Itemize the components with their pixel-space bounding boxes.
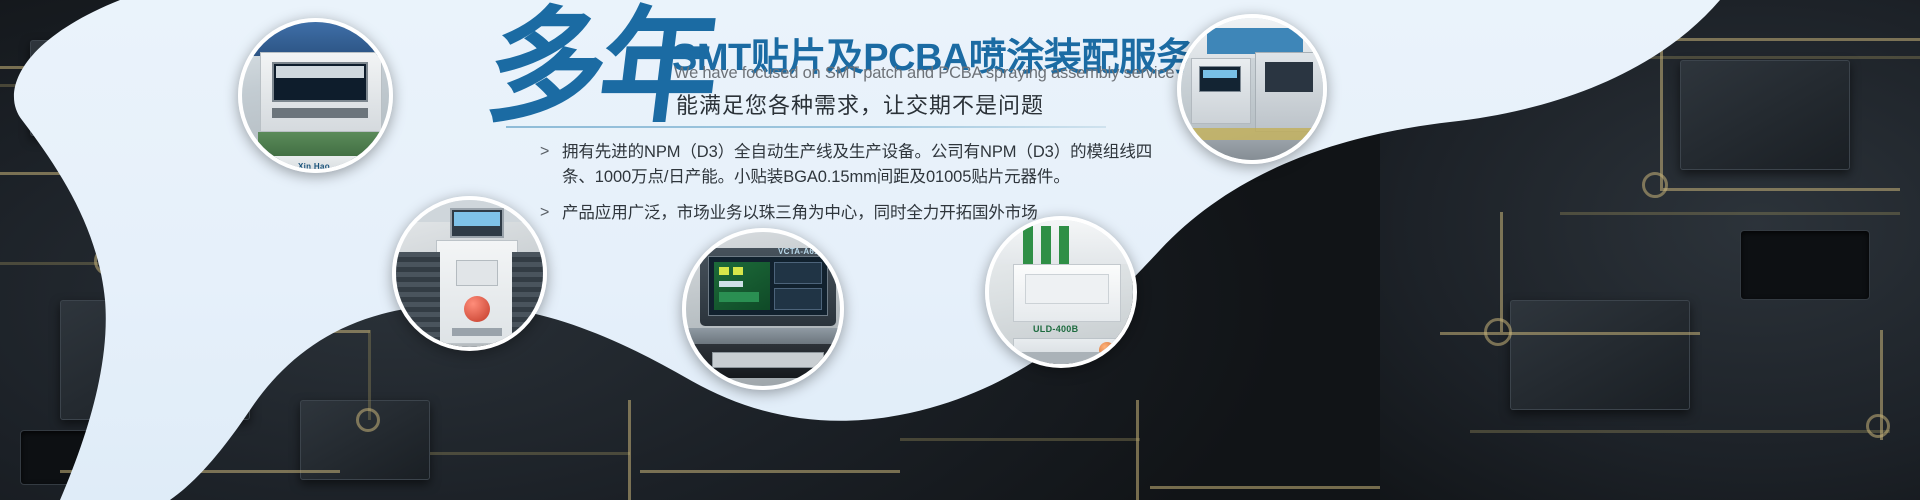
horizontal-divider: [506, 126, 1106, 128]
calligraphy-years: 多年: [480, 4, 682, 142]
chevron-right-icon: >: [540, 201, 562, 225]
photo-aoi-inspection-machine: VCTA-A610: [682, 228, 844, 390]
subtitle-english: We have focused on SMT patch and PCBA sp…: [674, 64, 1174, 83]
photo-production-line-overview: [1177, 14, 1327, 164]
list-item: > 拥有先进的NPM（D3）全自动生产线及生产设备。公司有NPM（D3）的模组线…: [540, 140, 1180, 190]
subtitle-chinese: 能满足您各种需求，让交期不是问题: [676, 88, 1044, 120]
photo-uld-loader-cabinet: ULD-400B: [985, 216, 1137, 368]
list-item-text: 产品应用广泛，市场业务以珠三角为中心，同时全力开拓国外市场: [562, 201, 1038, 226]
chevron-right-icon: >: [540, 140, 562, 164]
photo-smt-printer-machine: Xin Hao: [238, 18, 393, 173]
promotional-banner: 多年 SMT贴片及PCBA喷涂装配服务 We have focused on S…: [0, 0, 1920, 500]
list-item-text: 拥有先进的NPM（D3）全自动生产线及生产设备。公司有NPM（D3）的模组线四条…: [562, 140, 1162, 190]
photo-pick-and-place-feeders: [392, 196, 547, 351]
